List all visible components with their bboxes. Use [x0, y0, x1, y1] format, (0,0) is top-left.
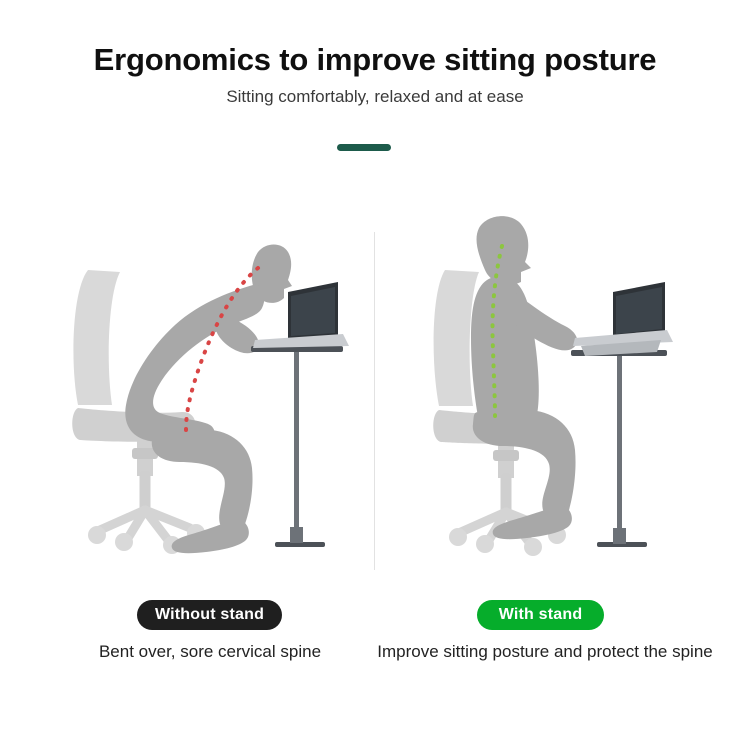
person-figure — [471, 216, 577, 539]
accent-divider-bar — [337, 144, 391, 151]
laptop-graphic — [573, 282, 673, 356]
desk-graphic — [251, 346, 343, 547]
desk-graphic — [571, 350, 667, 547]
caption-without-stand: Bent over, sore cervical spine — [35, 640, 385, 665]
caption-with-stand: Improve sitting posture and protect the … — [370, 640, 720, 665]
illustration-with-stand — [375, 190, 750, 590]
infographic-page: Ergonomics to improve sitting posture Si… — [0, 0, 750, 750]
page-title: Ergonomics to improve sitting posture — [0, 42, 750, 78]
badge-with-stand: With stand — [477, 600, 604, 630]
without-stand-svg — [0, 190, 375, 590]
page-subtitle: Sitting comfortably, relaxed and at ease — [0, 87, 750, 107]
with-stand-svg — [375, 190, 750, 590]
illustration-without-stand — [0, 190, 375, 590]
badge-without-stand: Without stand — [137, 600, 282, 630]
